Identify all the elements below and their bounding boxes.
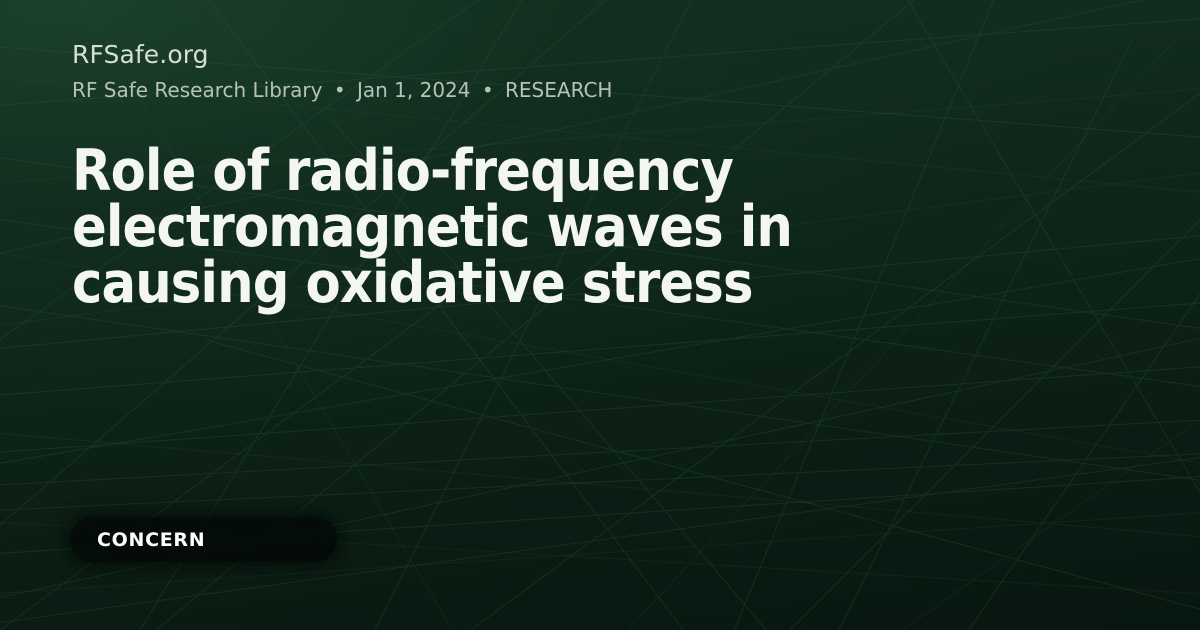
meta-date: Jan 1, 2024 [357,78,471,102]
meta-source: RF Safe Research Library [72,78,322,102]
site-brand: RFSafe.org [72,38,1130,72]
page-title: Role of radio-frequency electromagnetic … [72,143,972,311]
meta-separator-2: • [477,78,499,102]
meta-separator-1: • [329,78,351,102]
status-badge-container: CONCERN [70,517,337,562]
card-content: RFSafe.org RF Safe Research Library • Ja… [0,0,1200,630]
page-title-line-2: electromagnetic waves in [72,199,972,255]
status-badge: CONCERN [70,517,337,562]
meta-category: RESEARCH [505,78,612,102]
page-title-line-3: causing oxidative stress [72,255,972,311]
status-badge-label: CONCERN [97,529,205,551]
og-card: RFSafe.org RF Safe Research Library • Ja… [0,0,1200,630]
page-title-line-1: Role of radio-frequency [72,143,972,199]
article-meta: RF Safe Research Library • Jan 1, 2024 •… [72,76,1130,104]
